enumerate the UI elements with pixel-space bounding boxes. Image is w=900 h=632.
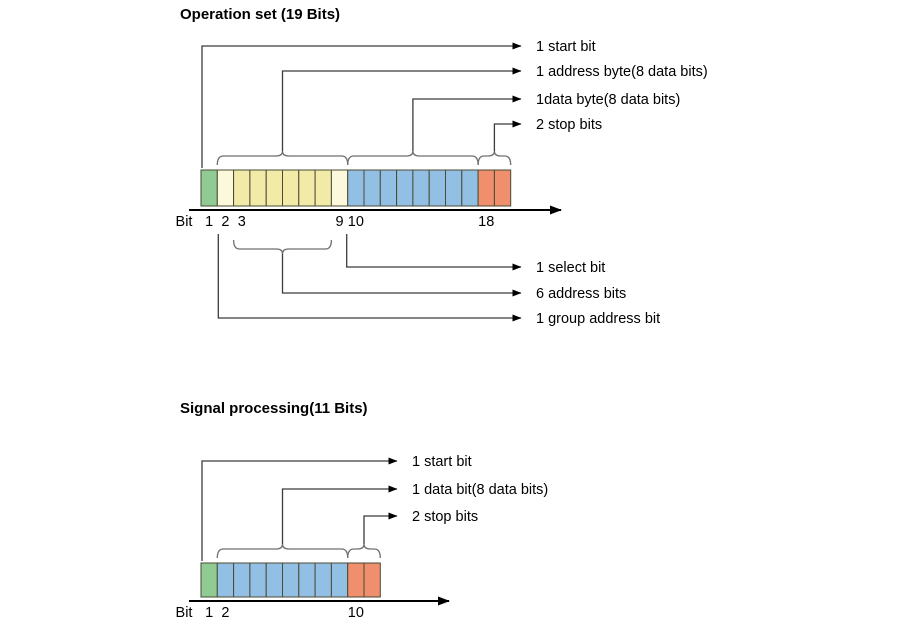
bit-frame-diagram: Operation set (19 Bits) 1 start bit1 add… <box>0 0 900 632</box>
callout-label: 1 address byte(8 data bits) <box>536 64 708 80</box>
callout-leader-line <box>413 99 521 151</box>
bit-cell-data-byte <box>397 170 413 206</box>
bit-cell-data-bits <box>217 563 233 597</box>
callout-leader-line <box>494 124 521 151</box>
bit-cell-address-byte <box>217 170 233 206</box>
callout-label: 2 stop bits <box>412 509 478 525</box>
brace-top <box>478 151 511 165</box>
axis-tick-label: 1 <box>205 214 213 230</box>
callout-label: 1data byte(8 data bits) <box>536 92 680 108</box>
callout-leader-line <box>202 461 397 561</box>
callouts-bottom-operation-set: 1 select bit6 address bits1 group addres… <box>218 234 660 327</box>
brace-bottom <box>234 240 332 254</box>
callout-leader-line <box>202 46 521 168</box>
axis-tick-label: 10 <box>348 605 364 621</box>
bit-cell-address-byte <box>283 170 299 206</box>
axis-tick-label: 1 <box>205 605 213 621</box>
callout-label: 6 address bits <box>536 286 626 302</box>
axis-tick-label: 10 <box>348 214 364 230</box>
axis-tick-label: Bit <box>176 605 193 621</box>
axis-tick-label: 9 <box>336 214 344 230</box>
axis-tick-label: Bit <box>176 214 193 230</box>
bit-cell-data-byte <box>348 170 364 206</box>
bit-cells-signal-processing <box>201 563 380 597</box>
axis-operation-set: Bit12391018 <box>176 210 561 230</box>
axis-tick-label: 2 <box>221 214 229 230</box>
bit-cell-start-bit <box>201 170 217 206</box>
bit-cell-data-byte <box>446 170 462 206</box>
frame-title-operation-set: Operation set (19 Bits) <box>180 6 340 23</box>
brace-top <box>348 151 478 165</box>
callout-label: 1 start bit <box>412 454 472 470</box>
bit-cell-data-bits <box>315 563 331 597</box>
frame-signal-processing: Signal processing(11 Bits) 1 start bit1 … <box>176 400 549 621</box>
bit-cell-data-bits <box>266 563 282 597</box>
callout-label: 1 group address bit <box>536 311 660 327</box>
bit-cell-data-byte <box>364 170 380 206</box>
callout-label: 1 start bit <box>536 39 596 55</box>
bit-cell-data-bits <box>234 563 250 597</box>
axis-tick-label: 18 <box>478 214 494 230</box>
bit-cell-address-byte <box>315 170 331 206</box>
bit-cell-data-bits <box>283 563 299 597</box>
bit-cell-start-bit <box>201 563 217 597</box>
callouts-top-signal-processing: 1 start bit1 data bit(8 data bits)2 stop… <box>202 454 548 561</box>
brace-top <box>217 544 347 558</box>
bit-cell-address-byte <box>299 170 315 206</box>
callout-leader-line <box>218 234 521 318</box>
callout-label: 2 stop bits <box>536 117 602 133</box>
frame-title-signal-processing: Signal processing(11 Bits) <box>180 400 368 417</box>
axis-tick-label: 2 <box>221 605 229 621</box>
callout-label: 1 select bit <box>536 260 605 276</box>
bit-cell-data-byte <box>380 170 396 206</box>
callout-leader-line <box>347 234 521 267</box>
bit-cell-stop-bits <box>364 563 380 597</box>
bit-cell-data-bits <box>299 563 315 597</box>
callout-leader-line <box>283 71 522 151</box>
bit-cell-address-byte <box>234 170 250 206</box>
bit-cell-stop-bits <box>494 170 510 206</box>
brace-top <box>217 151 347 165</box>
bit-cell-data-bits <box>331 563 347 597</box>
bit-cell-stop-bits <box>478 170 494 206</box>
bit-cell-data-byte <box>429 170 445 206</box>
bit-cell-data-bits <box>250 563 266 597</box>
callout-leader-line <box>283 254 522 293</box>
brace-top <box>348 544 381 558</box>
callouts-top-operation-set: 1 start bit1 address byte(8 data bits)1d… <box>202 39 708 168</box>
bit-cell-stop-bits <box>348 563 364 597</box>
bit-cell-data-byte <box>413 170 429 206</box>
bit-cell-address-byte <box>331 170 347 206</box>
bit-cell-address-byte <box>266 170 282 206</box>
frame-operation-set: Operation set (19 Bits) 1 start bit1 add… <box>176 6 708 327</box>
bit-cells-operation-set <box>201 170 511 206</box>
callout-label: 1 data bit(8 data bits) <box>412 482 548 498</box>
axis-signal-processing: Bit1210 <box>176 601 449 621</box>
bit-cell-data-byte <box>462 170 478 206</box>
callout-leader-line <box>364 516 397 544</box>
bit-cell-address-byte <box>250 170 266 206</box>
axis-tick-label: 3 <box>238 214 246 230</box>
